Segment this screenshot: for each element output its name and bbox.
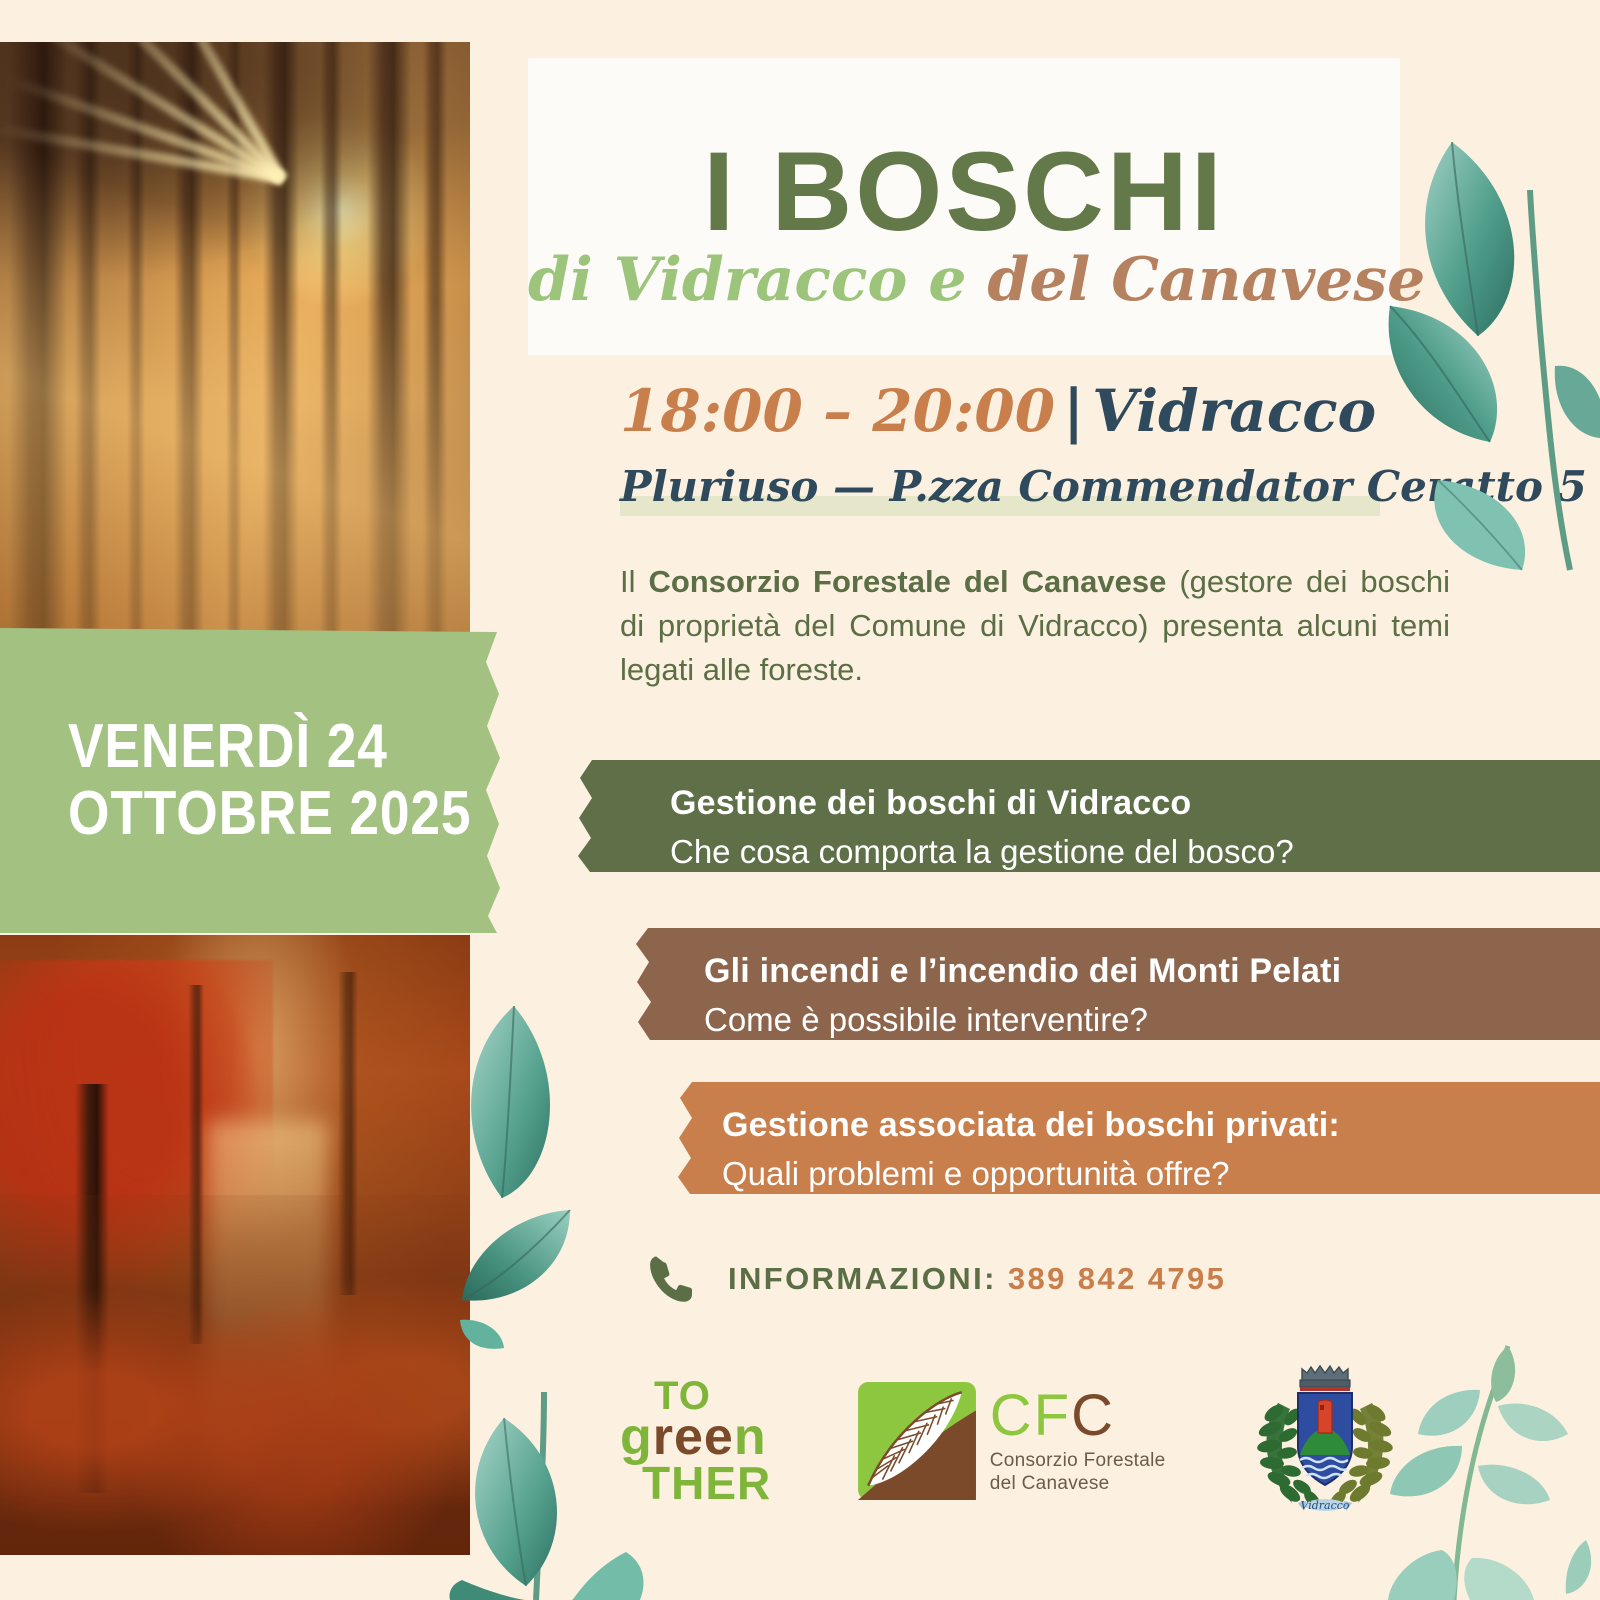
cfc-initials: CFC [990,1387,1166,1445]
page-title: I BOSCHI [528,136,1400,248]
sunlit-conifer-forest-photo [0,42,470,642]
cfc-subtitle: Consorzio Forestale del Canavese [990,1450,1166,1496]
cfc-letter-c1: C [990,1383,1034,1448]
topic-1-title: Gestione dei boschi di Vidracco [670,782,1600,825]
leaf-mark-icon [856,1380,978,1502]
subtitle-part-brown: del Canavese [987,245,1425,315]
venue-block: Pluriuso — P.zza Commendator Ceratto 5 [620,462,1500,522]
schedule-line: 18:00 – 20:00|Vidracco [620,382,1520,440]
contact-phone: 389 842 4795 [1008,1261,1226,1296]
header-card: I BOSCHI di Vidracco e del Canavese [528,58,1400,355]
event-time: 18:00 – 20:00 [620,377,1055,445]
topic-banner-2[interactable]: Gli incendi e l’incendio dei Monti Pelat… [636,928,1600,1040]
eucalyptus-leaves-icon [1380,130,1600,610]
date-band: VENERDÌ 24 OTTOBRE 2025 [0,628,500,933]
svg-text:Vidracco: Vidracco [1300,1499,1349,1512]
date-line-2: OTTOBRE 2025 [68,781,440,848]
event-town: Vidracco [1092,377,1376,445]
topic-3-subtitle: Quali problemi e opportunità offre? [722,1153,1600,1196]
event-venue: Pluriuso — P.zza Commendator Ceratto 5 [620,462,1587,511]
vidracco-coat-of-arms-icon: Vidracco [1250,1351,1400,1531]
poster-canvas: I BOSCHI di Vidracco e del Canavese VENE… [0,0,1600,1600]
topic-2-subtitle: Come è possibile interventire? [704,999,1600,1042]
intro-before: Il [620,564,648,599]
logo-row: TO green THER [620,1336,1400,1546]
togreenther-line-2: green [620,1414,771,1462]
topic-3-title: Gestione associata dei boschi privati: [722,1104,1600,1147]
autumn-red-forest-photo [0,935,470,1555]
intro-organization: Consorzio Forestale del Canavese [648,564,1166,599]
togreenther-logo: TO green THER [620,1378,771,1505]
page-subtitle: di Vidracco e del Canavese [528,250,1400,310]
topic-banner-3[interactable]: Gestione associata dei boschi privati: Q… [678,1082,1600,1194]
schedule-separator: | [1063,377,1084,445]
topic-1-subtitle: Che cosa comporta la gestione del bosco? [670,831,1600,874]
cfc-logo: CFC Consorzio Forestale del Canavese [856,1380,1166,1502]
date-line-1: VENERDÌ 24 [68,714,440,781]
cfc-letter-f: F [1034,1383,1071,1448]
topic-2-title: Gli incendi e l’incendio dei Monti Pelat… [704,950,1600,993]
cfc-letter-c2: C [1071,1383,1115,1448]
subtitle-part-green: di Vidracco e [528,245,987,315]
phone-icon [648,1252,694,1306]
contact-info-text: INFORMAZIONI: 389 842 4795 [728,1261,1226,1297]
topic-banner-1[interactable]: Gestione dei boschi di Vidracco Che cosa… [578,760,1600,872]
cfc-subtitle-line-1: Consorzio Forestale [990,1450,1166,1473]
cfc-subtitle-line-2: del Canavese [990,1473,1166,1496]
contact-label: INFORMAZIONI: [728,1261,1008,1296]
togreenther-line-3: THER [642,1462,771,1504]
contact-info-row[interactable]: INFORMAZIONI: 389 842 4795 [648,1252,1226,1306]
intro-paragraph: Il Consorzio Forestale del Canavese (ges… [620,560,1450,692]
